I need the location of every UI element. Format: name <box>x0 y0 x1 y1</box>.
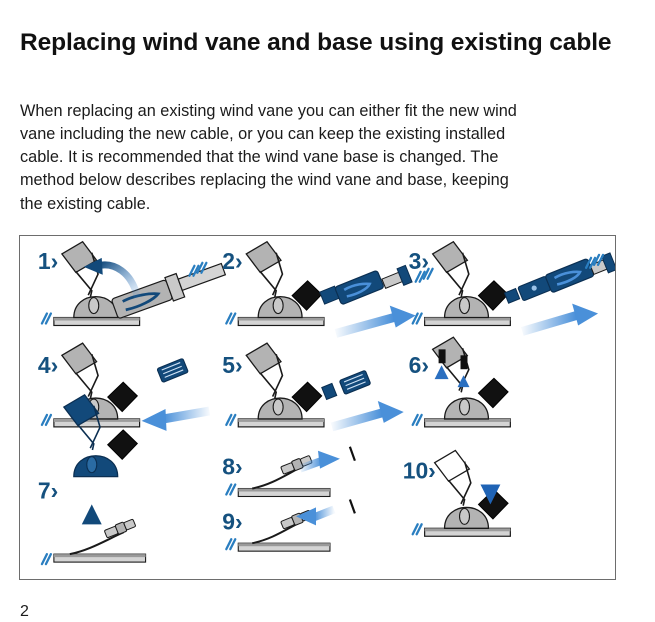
arrow-right-3 <box>522 304 598 332</box>
step-marker-6: 6› <box>409 352 429 378</box>
figure-step-2: 2› <box>222 240 432 333</box>
step-marker-2: 2› <box>222 248 242 274</box>
figure-step-1: 1› <box>38 240 228 325</box>
figure-step-4: 4› <box>38 342 209 431</box>
screw-right-6 <box>461 355 468 369</box>
step-marker-1: 1› <box>38 248 58 274</box>
step-marker-4: 4› <box>38 352 58 378</box>
page-title: Replacing wind vane and base using exist… <box>20 28 620 58</box>
screw-left-6 <box>439 349 446 363</box>
arrow-right-2 <box>336 306 416 334</box>
step-marker-10: 10› <box>403 458 436 484</box>
page-number: 2 <box>20 604 29 620</box>
figure-step-10: 10› <box>403 449 512 536</box>
step-marker-8: 8› <box>222 454 242 480</box>
step-marker-5: 5› <box>222 352 242 378</box>
step-marker-3: 3› <box>409 248 429 274</box>
figure-step-9: 9› <box>222 499 355 551</box>
figure-step-5: 5› <box>222 342 403 427</box>
wind-vane-steps-diagram: 1› 2› <box>20 236 615 579</box>
intro-paragraph: When replacing an existing wind vane you… <box>20 100 520 216</box>
step-marker-7: 7› <box>38 477 58 503</box>
arrow-up-6a <box>435 365 449 399</box>
figure-step-8: 8› <box>222 447 355 497</box>
figure-step-6: 6› <box>409 336 512 427</box>
page-root: Replacing wind vane and base using exist… <box>0 0 655 622</box>
figure-step-3: 3› <box>409 240 615 331</box>
arrow-left-4 <box>142 409 210 431</box>
illustration-panel: 1› 2› <box>19 235 616 580</box>
step-marker-9: 9› <box>222 508 242 534</box>
arrow-right-5 <box>332 401 404 427</box>
arrow-up-7 <box>82 504 102 546</box>
